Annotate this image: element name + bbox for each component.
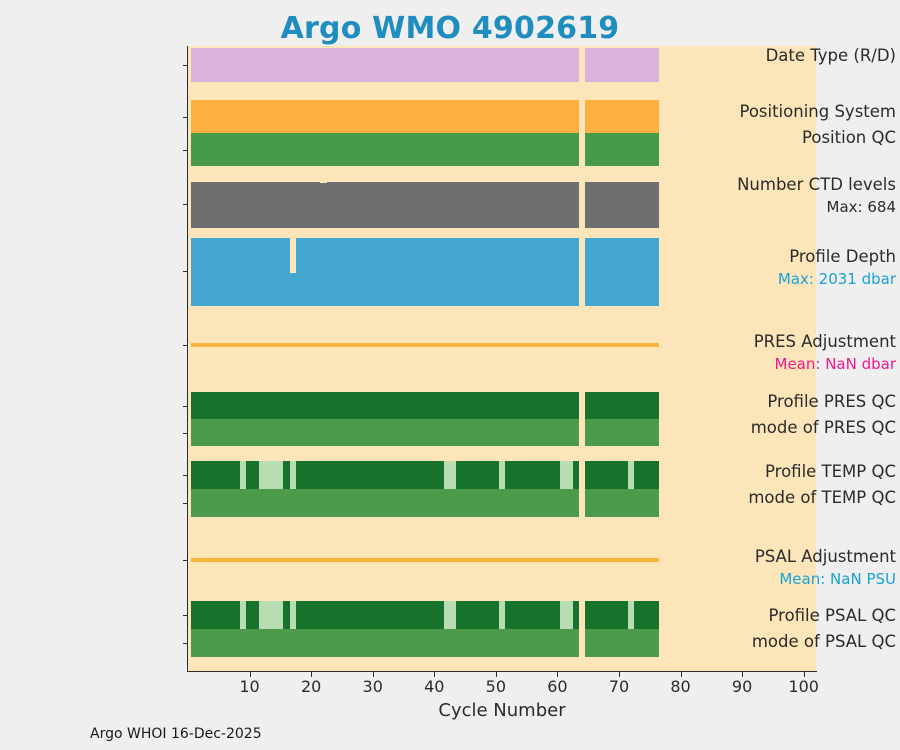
segment xyxy=(191,419,579,446)
segment xyxy=(191,629,579,657)
x-tick-label-30: 30 xyxy=(343,677,403,696)
segment xyxy=(585,133,659,166)
y-tick-date_type xyxy=(183,65,188,66)
segment xyxy=(628,601,634,629)
segment xyxy=(573,238,579,306)
segment xyxy=(450,461,456,489)
segment xyxy=(585,601,659,629)
segment xyxy=(191,601,579,629)
footer-credit: Argo WHOI 16-Dec-2025 xyxy=(90,726,262,742)
y-tick-profile_psal_qc xyxy=(183,615,188,616)
x-tick-label-40: 40 xyxy=(404,677,464,696)
row-sublabel-psal_adjustment: Mean: NaN PSU xyxy=(714,572,896,587)
segment xyxy=(191,100,579,133)
x-tick-label-90: 90 xyxy=(712,677,772,696)
y-tick-mode_temp_qc xyxy=(183,503,188,504)
row-label-text: Position QC xyxy=(802,128,896,147)
row-label-pres_adjustment: PRES AdjustmentMean: NaN dbar xyxy=(714,334,900,372)
y-tick-profile_depth xyxy=(183,271,188,272)
band-psal_adjustment xyxy=(188,558,816,562)
segment xyxy=(191,489,579,517)
segment xyxy=(290,601,296,629)
band-position_qc xyxy=(188,133,816,166)
segment xyxy=(191,392,579,419)
segment xyxy=(573,182,579,228)
x-tick-label-100: 100 xyxy=(774,677,834,696)
segment xyxy=(240,601,246,629)
y-tick-mode_psal_qc xyxy=(183,643,188,644)
x-tick-label-50: 50 xyxy=(466,677,526,696)
segment xyxy=(290,461,296,489)
segment xyxy=(191,558,659,562)
y-tick-positioning_system xyxy=(183,117,188,118)
x-tick-label-70: 70 xyxy=(589,677,649,696)
x-axis-line xyxy=(187,671,817,672)
row-sublabel-pres_adjustment: Mean: NaN dbar xyxy=(714,357,896,372)
segment xyxy=(499,601,505,629)
x-axis-label: Cycle Number xyxy=(188,700,816,721)
segment xyxy=(567,461,573,489)
segment xyxy=(653,238,659,306)
y-tick-ctd_levels xyxy=(183,204,188,205)
y-tick-profile_temp_qc xyxy=(183,475,188,476)
segment xyxy=(191,48,579,82)
page-title: Argo WMO 4902619 xyxy=(0,11,900,46)
y-tick-pres_adjustment xyxy=(183,345,188,346)
x-tick-label-80: 80 xyxy=(651,677,711,696)
x-tick-label-20: 20 xyxy=(281,677,341,696)
segment xyxy=(277,601,283,629)
band-mode_psal_qc xyxy=(188,629,816,657)
segment xyxy=(628,461,634,489)
segment xyxy=(585,48,659,82)
y-tick-position_qc xyxy=(183,150,188,151)
segment xyxy=(585,629,659,657)
segment xyxy=(585,392,659,419)
band-mode_pres_qc xyxy=(188,419,816,446)
band-profile_temp_qc xyxy=(188,461,816,489)
band-ctd_levels xyxy=(188,180,816,228)
band-profile_depth xyxy=(188,236,816,306)
band-mode_temp_qc xyxy=(188,489,816,517)
row-label-text: PRES Adjustment xyxy=(754,332,896,351)
segment xyxy=(585,100,659,133)
y-tick-mode_pres_qc xyxy=(183,433,188,434)
row-label-text: PSAL Adjustment xyxy=(755,547,896,566)
segment xyxy=(191,133,579,166)
segment xyxy=(191,461,579,489)
segment xyxy=(450,601,456,629)
segment xyxy=(499,461,505,489)
segment xyxy=(567,601,573,629)
x-tick-label-10: 10 xyxy=(220,677,280,696)
segment xyxy=(653,182,659,228)
segment xyxy=(585,489,659,517)
segment xyxy=(585,461,659,489)
segment xyxy=(585,419,659,446)
band-profile_psal_qc xyxy=(188,601,816,629)
band-positioning_system xyxy=(188,100,816,133)
segment xyxy=(240,461,246,489)
row-label-psal_adjustment: PSAL AdjustmentMean: NaN PSU xyxy=(714,549,900,587)
segment xyxy=(277,461,283,489)
x-tick-label-60: 60 xyxy=(527,677,587,696)
band-date_type xyxy=(188,48,816,82)
y-tick-psal_adjustment xyxy=(183,560,188,561)
band-profile_pres_qc xyxy=(188,392,816,419)
segment xyxy=(191,343,659,347)
y-tick-profile_pres_qc xyxy=(183,406,188,407)
band-pres_adjustment xyxy=(188,343,816,347)
